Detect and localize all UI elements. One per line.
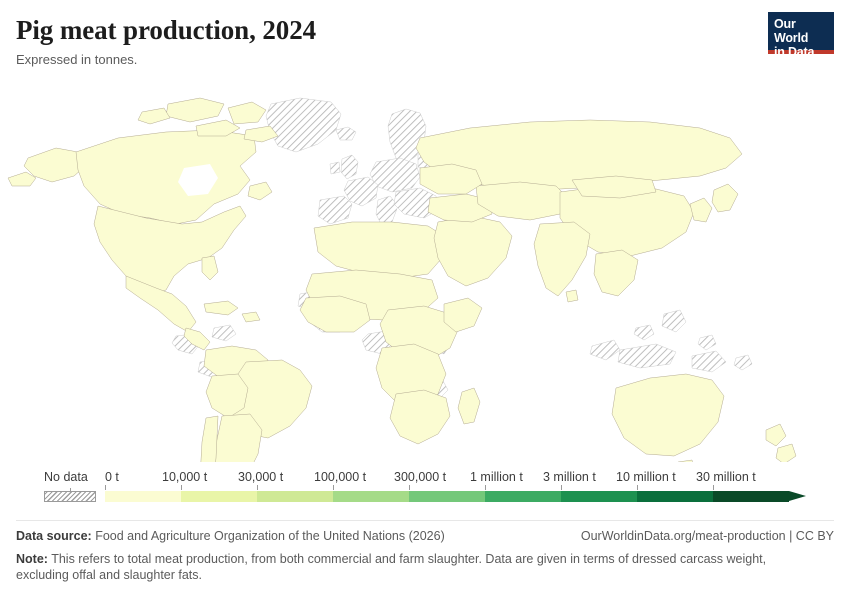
map-svg: [0, 82, 850, 462]
legend-bin-5[interactable]: [485, 491, 561, 502]
data-source-text: Food and Agriculture Organization of the…: [95, 529, 445, 543]
logo-line-1: Our World: [774, 17, 828, 45]
chart-footer: Data source: Food and Agriculture Organi…: [16, 528, 834, 583]
legend-color-ramp[interactable]: [105, 491, 806, 502]
legend-no-data-label: No data: [44, 470, 88, 485]
legend-bin-4[interactable]: [409, 491, 485, 502]
legend-tick-label-3: 100,000 t: [314, 470, 366, 485]
legend-bin-3[interactable]: [333, 491, 409, 502]
logo-line-2: in Data: [774, 45, 828, 59]
legend-no-data-swatch[interactable]: [44, 491, 96, 502]
page-title: Pig meat production, 2024: [16, 14, 834, 46]
note-prefix: Note:: [16, 552, 48, 566]
legend-tick-8: [713, 485, 714, 490]
legend-tick-label-1: 10,000 t: [162, 470, 207, 485]
legend-bar-row: [0, 489, 850, 505]
world-choropleth-map[interactable]: [0, 82, 850, 462]
legend-tick-7: [637, 485, 638, 490]
legend-tick-label-5: 1 million t: [470, 470, 523, 485]
legend-tick-label-0: 0 t: [105, 470, 119, 485]
legend-bin-2[interactable]: [257, 491, 333, 502]
legend-tick-2: [257, 485, 258, 490]
chart-subtitle: Expressed in tonnes.: [16, 52, 834, 68]
footer-divider: [16, 520, 834, 521]
data-source-row: Data source: Food and Agriculture Organi…: [16, 528, 834, 546]
legend-labels: No data 0 t 10,000 t 30,000 t 100,000 t …: [0, 470, 850, 487]
legend-tick-label-2: 30,000 t: [238, 470, 283, 485]
legend-bin-1[interactable]: [181, 491, 257, 502]
legend-no-data-tick: [70, 488, 71, 493]
legend-bin-7[interactable]: [637, 491, 713, 502]
legend-bin-8[interactable]: [713, 491, 789, 502]
legend-bin-6[interactable]: [561, 491, 637, 502]
legend-tick-4: [409, 485, 410, 490]
legend-tick-label-8: 30 million t: [696, 470, 756, 485]
chart-header: Pig meat production, 2024 Expressed in t…: [16, 14, 834, 72]
owid-logo[interactable]: Our World in Data: [768, 12, 834, 54]
legend-tick-5: [485, 485, 486, 490]
legend-tick-label-7: 10 million t: [616, 470, 676, 485]
source-link[interactable]: OurWorldinData.org/meat-production | CC …: [581, 528, 834, 544]
legend-open-end-arrow: [789, 491, 806, 501]
data-source-prefix: Data source:: [16, 529, 92, 543]
legend-tick-3: [333, 485, 334, 490]
legend-tick-0: [105, 485, 106, 490]
map-legend: No data 0 t 10,000 t 30,000 t 100,000 t …: [0, 470, 850, 516]
legend-tick-6: [561, 485, 562, 490]
legend-bin-0[interactable]: [105, 491, 181, 502]
legend-tick-1: [181, 485, 182, 490]
note-row: Note: This refers to total meat producti…: [16, 551, 816, 583]
legend-tick-label-4: 300,000 t: [394, 470, 446, 485]
note-text: This refers to total meat production, fr…: [16, 552, 766, 582]
legend-tick-label-6: 3 million t: [543, 470, 596, 485]
